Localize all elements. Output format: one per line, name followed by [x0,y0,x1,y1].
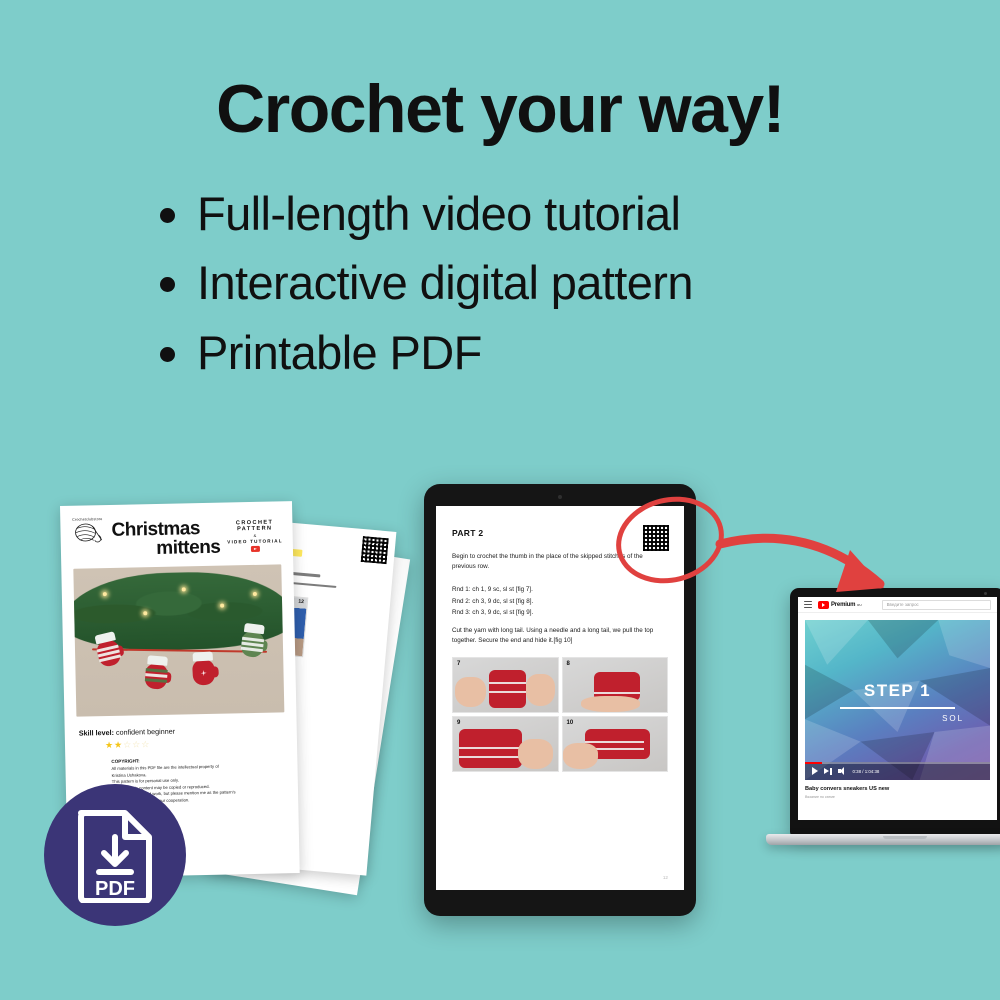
poster-canvas: Crochet your way! Full-length video tuto… [0,0,1000,1000]
figure-grid: 7 8 9 [452,657,668,772]
overlay-divider [840,707,955,709]
round-instructions: Rnd 1: ch 1, 9 sc, sl st [fig 7]. Rnd 2:… [452,584,668,619]
arrow-head-icon [836,550,884,592]
volume-icon[interactable] [838,767,847,775]
round-line: Rnd 3: ch 3, 9 dc, sl st [fig 9]. [452,607,668,619]
progress-bar[interactable] [805,762,990,764]
tablet-screen[interactable]: PART 2 Begin to crochet the thumb in the… [436,506,684,890]
section-intro: Begin to crochet the thumb in the place … [452,552,668,572]
section-title: PART 2 [452,528,668,538]
youtube-icon [251,546,260,552]
video-player[interactable]: STEP 1 SOL 0:38 / 1:04:38 [805,620,990,780]
pdf-download-badge[interactable]: PDF [44,784,186,926]
shop-logo: Crochetclubstore [70,517,105,551]
cover-badge: CROCHET PATTERN & VIDEO TUTORIAL [227,513,283,552]
skill-level-label: Skill level: [79,728,114,738]
skill-level-value: confident beginner [116,727,175,737]
laptop-device: Premium RU Введите запрос [790,588,1000,858]
youtube-premium-logo[interactable]: Premium RU [818,601,862,609]
feature-label: Printable PDF [197,325,482,380]
finishing-note: Cut the yarn with long tail. Using a nee… [452,626,668,646]
cover-title-line-2: mittens [112,538,221,559]
page-title: Crochet your way! [0,74,1000,145]
figure-number: 10 [567,720,574,726]
next-icon[interactable] [824,768,832,775]
bullet-dot-icon [160,277,175,292]
figure-cell: 8 [562,657,669,713]
search-placeholder: Введите запрос [887,602,919,607]
feature-list: Full-length video tutorial Interactive d… [160,186,920,394]
figure-cell: 10 [562,716,669,772]
video-channel[interactable]: Вязание по схеме [805,795,990,799]
figure-number: 8 [567,661,570,667]
figure-cell: 9 [452,716,559,772]
mitten-ornament [239,623,267,660]
list-item: Full-length video tutorial [160,186,920,241]
video-meta: Baby convers sneakers US new Вязание по … [798,780,997,799]
feature-label: Interactive digital pattern [197,255,693,310]
badge-line-2: PATTERN [227,525,283,532]
camera-icon [984,592,987,595]
search-input[interactable]: Введите запрос [882,600,991,610]
qr-code-icon [360,535,390,565]
youtube-header: Premium RU Введите запрос [798,597,997,613]
mitten-ornament [191,651,217,686]
list-item: Printable PDF [160,325,920,380]
camera-icon [558,495,562,499]
laptop-notch [883,836,927,839]
video-overlay: STEP 1 SOL [805,681,990,723]
overlay-title: STEP 1 [805,681,990,701]
tablet-device: PART 2 Begin to crochet the thumb in the… [424,484,696,916]
round-line: Rnd 1: ch 1, 9 sc, sl st [fig 7]. [452,584,668,596]
arrow-shaft-icon [720,538,880,584]
menu-icon[interactable] [804,601,812,608]
video-timestamp: 0:38 / 1:04:38 [853,769,880,774]
figure-cell: 7 [452,657,559,713]
youtube-logo-region: RU [857,603,861,607]
yarn-ball-icon [72,521,102,546]
bullet-dot-icon [160,208,175,223]
file-download-icon: PDF [73,807,157,903]
skill-level-row: Skill level: confident beginner [79,724,297,738]
laptop-screen-lid: Premium RU Введите запрос [790,588,1000,836]
pattern-document-page: PART 2 Begin to crochet the thumb in the… [436,506,684,890]
mitten-ornament [143,655,170,691]
skill-rating: ★★☆☆☆ [105,737,297,750]
qr-code-icon[interactable] [642,524,670,552]
figure-number: 9 [457,720,460,726]
play-icon[interactable] [812,767,818,775]
badge-line-3: VIDEO TUTORIAL [227,538,283,544]
youtube-logo-label: Premium [831,602,855,608]
figure-number: 7 [457,661,460,667]
round-line: Rnd 2: ch 3, 9 dc, sl st [fig 8]. [452,596,668,608]
video-title[interactable]: Baby convers sneakers US new [805,786,990,792]
youtube-play-icon [818,601,829,609]
cover-title: Christmas mittens [111,515,220,559]
cover-header: Crochetclubstore Christmas mittens [60,501,293,560]
overlay-subtitle: SOL [805,714,990,723]
feature-label: Full-length video tutorial [197,186,680,241]
list-item: Interactive digital pattern [160,255,920,310]
bullet-dot-icon [160,347,175,362]
youtube-page[interactable]: Premium RU Введите запрос [798,597,997,820]
player-controls[interactable]: 0:38 / 1:04:38 [805,762,990,780]
page-number: 12 [663,875,668,880]
pdf-label: PDF [95,878,135,900]
cover-photo [73,564,284,716]
